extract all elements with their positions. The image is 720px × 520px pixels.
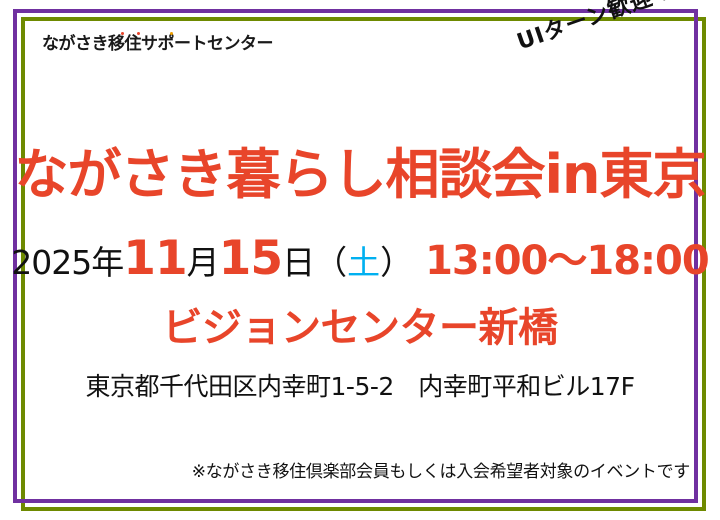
logo-text-part-5: ポ [158, 34, 175, 54]
event-month-unit: 月 [187, 243, 219, 282]
event-day-of-week: 土 [347, 243, 380, 282]
organization-logo: ながさき移住サポートセンター [42, 36, 273, 53]
logo-text-part-1: ながさき [42, 34, 108, 54]
logo-text-part-2: 移 [108, 34, 125, 54]
event-day-number: 15 [219, 231, 282, 286]
venue-name: ビジョンセンター新橋 [0, 306, 720, 350]
logo-text-part-6: ートセンター [174, 34, 273, 54]
event-day-unit: 日 [282, 243, 314, 282]
paren-open: （ [314, 243, 347, 282]
logo-text-part-3: 住 [125, 34, 142, 54]
venue-address: 東京都千代田区内幸町1-5-2 内幸町平和ビル17F [0, 372, 720, 402]
poster-content: ながさき移住サポートセンター UIターン歓迎！ ながさき暮らし相談会in東京 2… [0, 0, 720, 520]
event-poster: ながさき移住サポートセンター UIターン歓迎！ ながさき暮らし相談会in東京 2… [0, 0, 720, 520]
logo-text-part-4: サ [141, 34, 158, 54]
catch-copy: UIターン歓迎！ [512, 0, 712, 56]
event-time-range: 13:00～18:00 [425, 238, 709, 284]
eligibility-note: ※ながさき移住倶楽部会員もしくは入会希望者対象のイベントです [192, 462, 690, 482]
page-title: ながさき暮らし相談会in東京 [0, 146, 720, 204]
paren-close: ） [380, 243, 413, 282]
event-month-number: 11 [123, 231, 186, 286]
event-year: 2025年 [11, 243, 123, 282]
event-datetime: 2025年11月15日（土）13:00～18:00 [0, 235, 720, 282]
